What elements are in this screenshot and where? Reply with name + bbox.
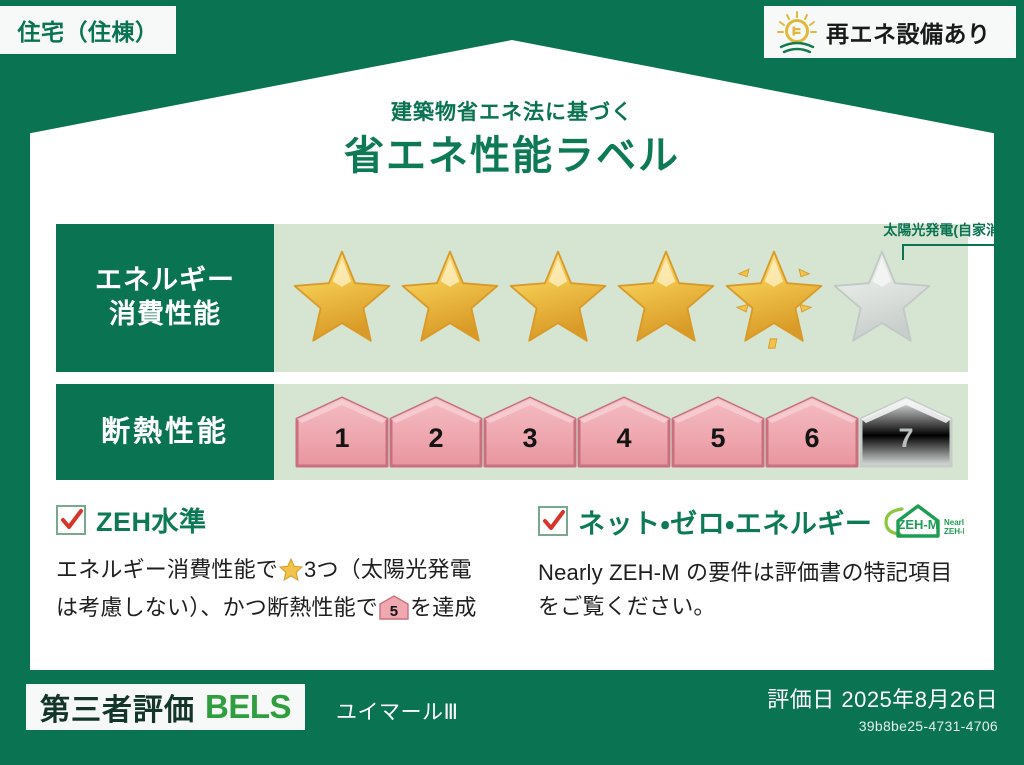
svg-text:Nearly: Nearly [944,518,964,527]
house-grade-filled: 1 [294,395,390,469]
house-grade-filled: 2 [388,395,484,469]
star-filled [288,246,396,350]
criteria-section: ZEH水準 エネルギー消費性能で3つ（太陽光発電は考慮しない）、かつ断熱性能で5… [56,500,968,625]
house-grade-empty: 7 [858,395,954,469]
house-grade-icon-value: 5 [378,600,410,623]
footer: 第三者評価 BELS ユイマールⅢ 評価日 2025年8月26日 39b8be2… [0,670,1024,765]
record-id: 39b8be25-4731-4706 [767,718,998,734]
category-tag: 住宅（住棟） [0,6,176,54]
house-grade-number: 3 [482,423,578,454]
house-grade-number: 2 [388,423,484,454]
star-rating [274,224,968,372]
label-subtitle: 建築物省エネ法に基づく [30,96,994,126]
net-zero-heading: ネット・ゼロ・エネルギー [578,502,872,541]
solar-sun-icon [774,10,820,54]
insulation-performance-row: 断熱性能 1 [56,384,968,480]
energy-label-line1: エネルギー [95,264,235,298]
energy-rating-area: 太陽光発電(自家消費)分 [274,224,968,372]
house-grade-filled: 6 [764,395,860,469]
zeh-desc-part1: エネルギー消費性能で [56,557,278,582]
star-filled-solar [720,246,828,350]
building-name: ユイマールⅢ [336,696,458,726]
zeh-standard-heading: ZEH水準 [96,500,207,539]
svg-text:ZEH-M: ZEH-M [944,527,964,536]
bels-logo: 第三者評価 BELS [26,684,305,730]
zeh-desc-part4: を達成 [410,595,477,620]
zeh-standard-heading-row: ZEH水準 [56,500,488,539]
energy-label-line2: 消費性能 [109,298,221,332]
page-title: 省エネ性能ラベル [30,123,994,181]
house-grade-filled: 4 [576,395,672,469]
net-zero-energy-block: ネット・ゼロ・エネルギー ZEH-M Nearly ZEH-M Nearly Z… [512,500,968,625]
star-filled [612,246,720,350]
star-empty [828,246,936,350]
category-tag-label: 住宅（住棟） [18,13,159,47]
energy-performance-label: エネルギー 消費性能 [56,224,274,372]
house-grade-number: 7 [858,423,954,454]
house-grade-number: 6 [764,423,860,454]
zeh-desc-part2: 3つ（太陽光発電 [304,557,472,582]
star-filled [396,246,504,350]
energy-performance-row: エネルギー 消費性能 [56,224,968,372]
insulation-rating-area: 1 2 3 [274,384,968,480]
star-icon [279,557,303,591]
house-grade-filled: 5 [670,395,766,469]
net-zero-description: Nearly ZEH-M の要件は評価書の特記項目をご覧ください。 [538,556,968,624]
house-grade-number: 4 [576,423,672,454]
zeh-standard-block: ZEH水準 エネルギー消費性能で3つ（太陽光発電は考慮しない）、かつ断熱性能で5… [56,500,512,625]
house-grade-number: 1 [294,423,390,454]
net-zero-checkbox [538,506,568,536]
house-grade-number: 5 [670,423,766,454]
insulation-performance-label: 断熱性能 [56,384,274,480]
label-card: 建築物省エネ法に基づく 省エネ性能ラベル エネルギー 消費性能 [30,40,994,670]
svg-text:ZEH-M: ZEH-M [898,517,939,532]
zeh-standard-checkbox [56,505,86,535]
house-grade-scale: 1 2 3 [274,384,968,480]
zeh-desc-part3: は考慮しない）、かつ断熱性能で [56,595,378,620]
renewable-energy-badge: 再エネ設備あり [764,6,1016,58]
bels-en-label: BELS [205,688,291,726]
renewable-badge-label: 再エネ設備あり [826,15,991,49]
evaluation-date: 評価日 2025年8月26日 [767,682,998,714]
zeh-standard-description: エネルギー消費性能で3つ（太陽光発電は考慮しない）、かつ断熱性能で5を達成 [56,553,488,625]
bels-jp-label: 第三者評価 [40,685,195,729]
insulation-label-text: 断熱性能 [101,414,229,450]
net-zero-heading-row: ネット・ゼロ・エネルギー ZEH-M Nearly ZEH-M [538,500,968,542]
footer-meta: 評価日 2025年8月26日 39b8be25-4731-4706 [767,682,998,734]
house-grade-icon: 5 [378,595,410,620]
house-grade-filled: 3 [482,395,578,469]
star-filled [504,246,612,350]
zeh-m-logo: ZEH-M Nearly ZEH-M [880,500,964,542]
